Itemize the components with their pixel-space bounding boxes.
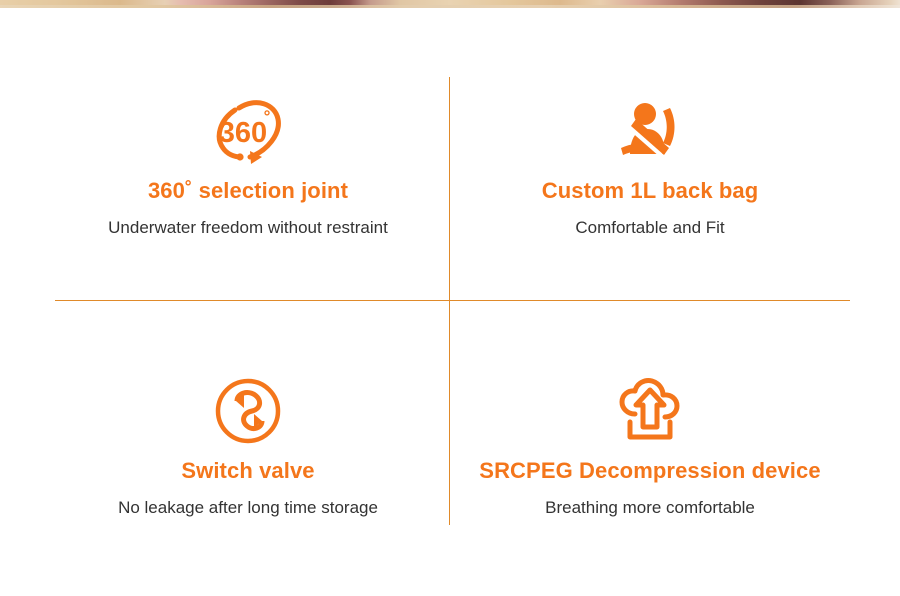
360-rotation-icon: 360 ° <box>28 90 468 172</box>
cloud-upload-icon <box>430 370 870 452</box>
seatbelt-person-icon <box>430 90 870 172</box>
feature-subtitle: Underwater freedom without restraint <box>28 218 468 238</box>
feature-card-decompression-device: SRCPEG Decompression device Breathing mo… <box>430 370 870 519</box>
horizontal-divider <box>55 300 850 301</box>
feature-subtitle: No leakage after long time storage <box>28 498 468 518</box>
feature-subtitle: Breathing more comfortable <box>430 498 870 518</box>
circular-exchange-arrows-icon <box>28 370 468 452</box>
feature-card-switch-valve: Switch valve No leakage after long time … <box>28 370 468 519</box>
feature-card-selection-joint: 360 ° 360˚ selection joint Underwater fr… <box>28 90 468 239</box>
feature-card-back-bag: Custom 1L back bag Comfortable and Fit <box>430 90 870 239</box>
feature-title: SRCPEG Decompression device <box>430 458 870 484</box>
feature-subtitle: Comfortable and Fit <box>430 218 870 238</box>
feature-title: Custom 1L back bag <box>430 178 870 204</box>
feature-title: 360˚ selection joint <box>28 178 468 204</box>
feature-grid: 360 ° 360˚ selection joint Underwater fr… <box>0 8 900 596</box>
360-icon-degree: ° <box>264 107 271 126</box>
feature-title: Switch valve <box>28 458 468 484</box>
top-photo-sliver <box>0 0 900 8</box>
360-icon-text: 360 <box>219 117 267 149</box>
